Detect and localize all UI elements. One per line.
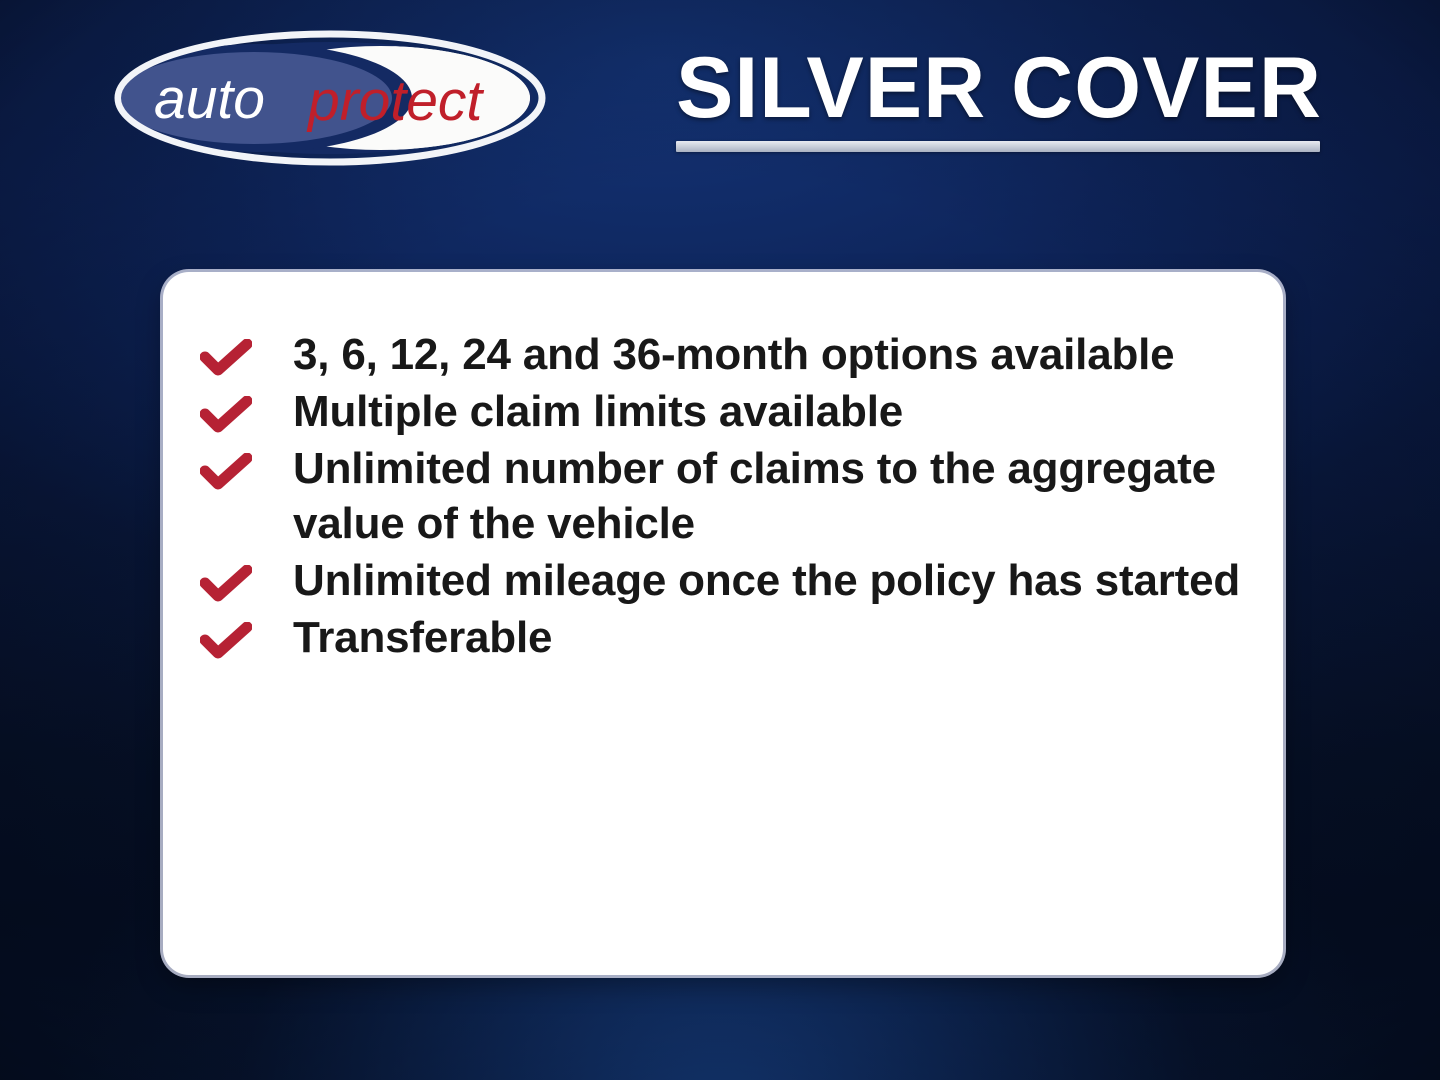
benefits-card: 3, 6, 12, 24 and 36-month options availa…: [163, 272, 1283, 975]
slide-root: auto protect SILVER COVER 3, 6, 12, 24 a…: [0, 0, 1440, 1080]
title-underline-rule: [676, 141, 1320, 152]
autoprotect-logo: auto protect: [112, 28, 548, 168]
slide-header: auto protect SILVER COVER: [0, 0, 1440, 200]
logo-text-auto: auto: [154, 67, 265, 131]
check-icon-cell: [196, 384, 293, 436]
page-title: SILVER COVER: [676, 44, 1328, 132]
list-item: Transferable: [196, 610, 1253, 665]
list-item: 3, 6, 12, 24 and 36-month options availa…: [196, 327, 1253, 382]
list-item-label: Unlimited number of claims to the aggreg…: [293, 441, 1253, 551]
list-item-label: Multiple claim limits available: [293, 384, 1253, 439]
page-title-block: SILVER COVER: [676, 44, 1328, 152]
check-icon: [200, 396, 252, 436]
check-icon: [200, 622, 252, 662]
list-item: Unlimited mileage once the policy has st…: [196, 553, 1253, 608]
check-icon: [200, 453, 252, 493]
check-icon: [200, 339, 252, 379]
list-item-label: 3, 6, 12, 24 and 36-month options availa…: [293, 327, 1253, 382]
list-item: Unlimited number of claims to the aggreg…: [196, 441, 1253, 551]
check-icon-cell: [196, 553, 293, 605]
logo-text-protect: protect: [306, 69, 484, 133]
benefits-list: 3, 6, 12, 24 and 36-month options availa…: [196, 327, 1253, 667]
check-icon-cell: [196, 441, 293, 493]
list-item-label: Unlimited mileage once the policy has st…: [293, 553, 1253, 608]
list-item-label: Transferable: [293, 610, 1253, 665]
check-icon: [200, 565, 252, 605]
list-item: Multiple claim limits available: [196, 384, 1253, 439]
check-icon-cell: [196, 610, 293, 662]
check-icon-cell: [196, 327, 293, 379]
